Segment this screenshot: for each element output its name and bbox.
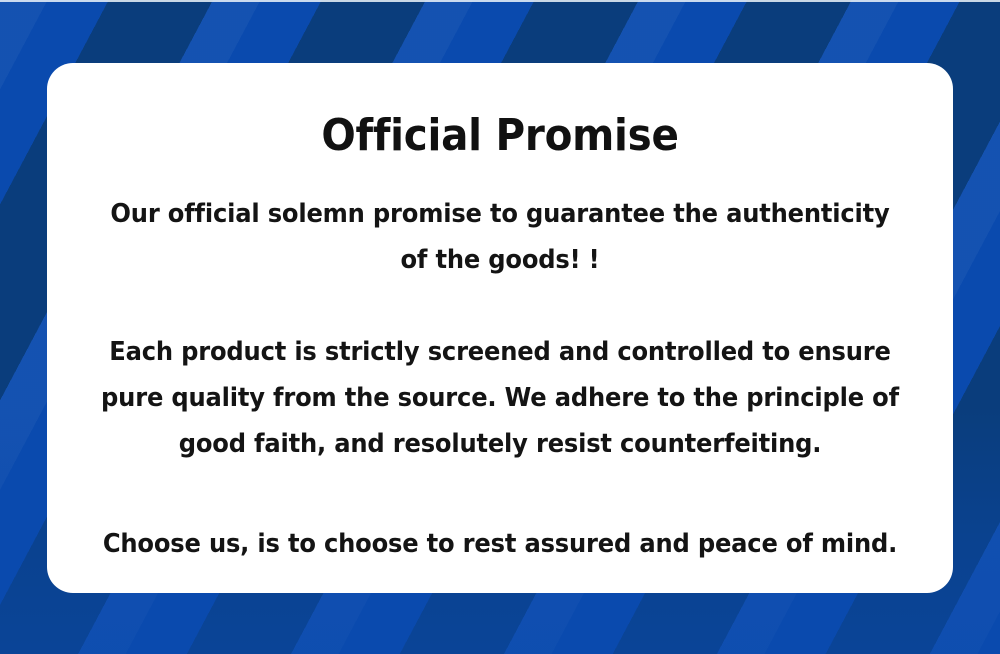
promise-paragraph-3: Choose us, is to choose to rest assured … <box>101 521 899 567</box>
promise-paragraph-2: Each product is strictly screened and co… <box>101 329 899 467</box>
page-title: Official Promise <box>83 110 917 162</box>
promise-body: Our official solemn promise to guarantee… <box>71 191 929 567</box>
promise-card: Official Promise Our official solemn pro… <box>47 63 953 593</box>
promise-banner: Official Promise Our official solemn pro… <box>0 0 1000 654</box>
promise-paragraph-1: Our official solemn promise to guarantee… <box>101 191 899 283</box>
top-edge-highlight <box>0 0 1000 2</box>
